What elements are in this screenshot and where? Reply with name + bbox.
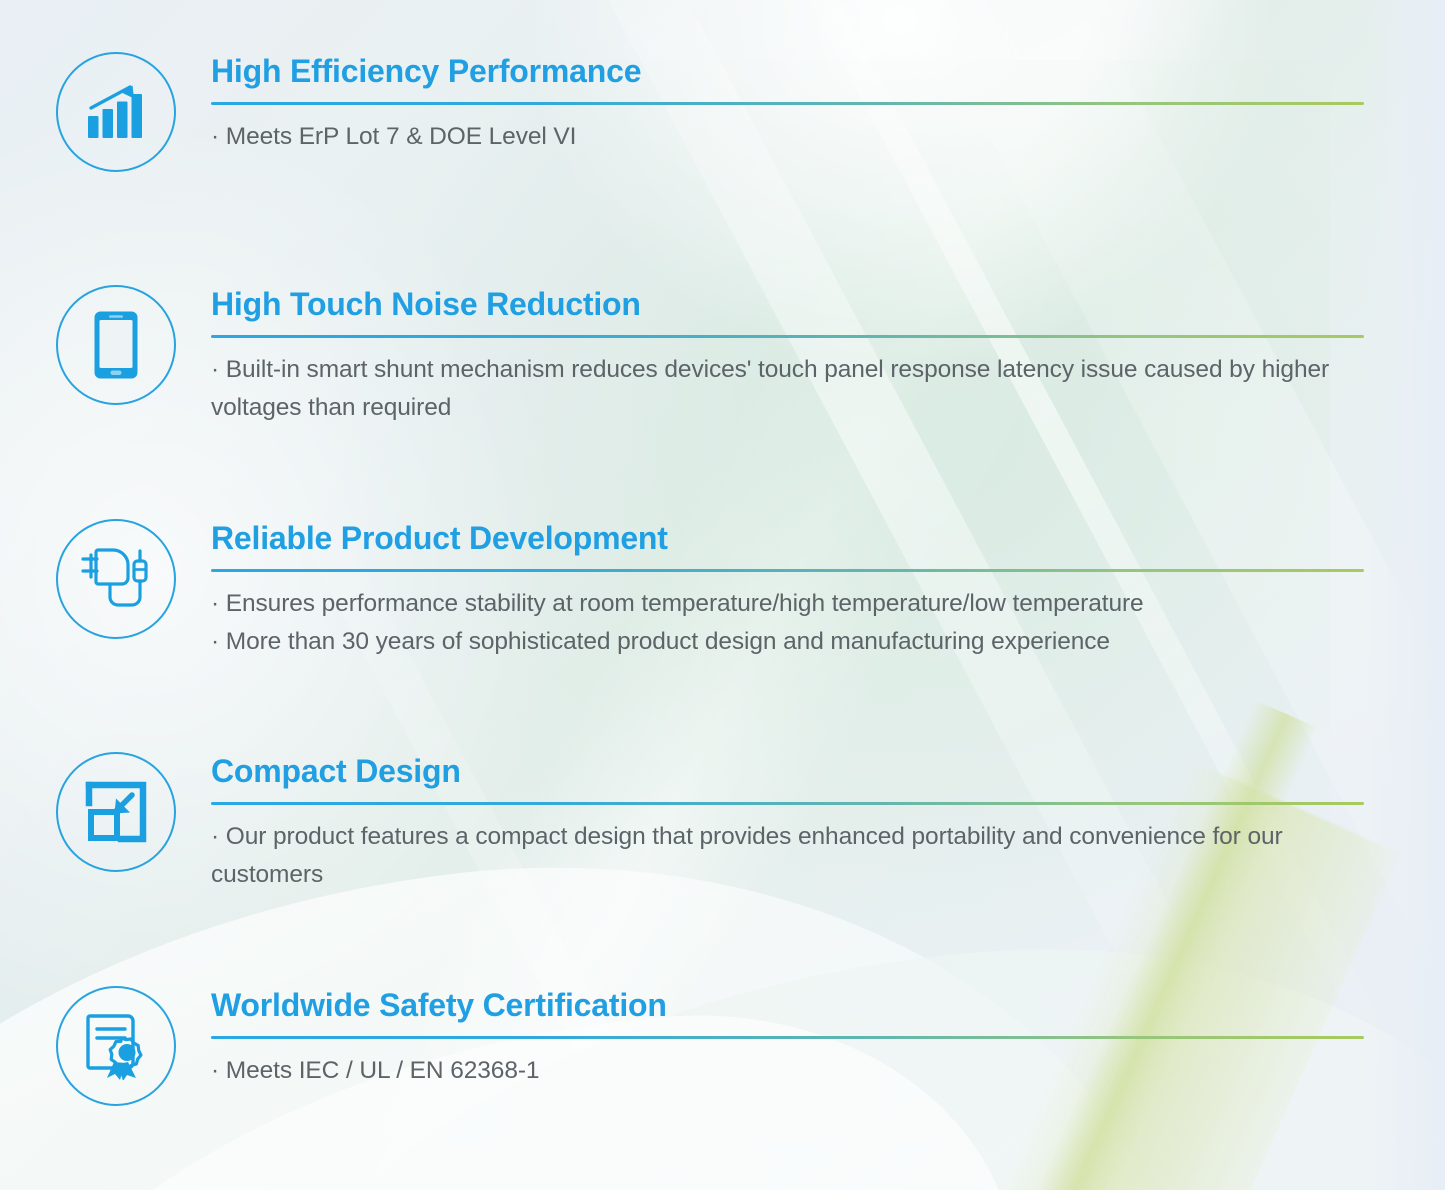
- feature-body: · Built-in smart shunt mechanism reduces…: [211, 351, 1385, 427]
- feature-text-column: Reliable Product Development · Ensures p…: [211, 522, 1385, 661]
- feature-title: Compact Design: [211, 755, 1385, 787]
- feature-body: · Meets ErP Lot 7 & DOE Level VI: [211, 118, 1385, 156]
- feature-divider: [211, 569, 1364, 572]
- feature-body-line: · Our product features a compact design …: [211, 818, 1371, 894]
- feature-title: High Efficiency Performance: [211, 55, 1385, 87]
- feature-divider: [211, 802, 1364, 805]
- certificate-seal-icon: [84, 1012, 148, 1080]
- feature-body-line: · Meets ErP Lot 7 & DOE Level VI: [211, 118, 1385, 156]
- bar-chart-growth-icon: [85, 83, 147, 141]
- smartphone-icon: [93, 310, 139, 380]
- feature-text-column: High Efficiency Performance · Meets ErP …: [211, 55, 1385, 156]
- feature-body-line: · Meets IEC / UL / EN 62368-1: [211, 1052, 1385, 1090]
- feature-divider: [211, 1036, 1364, 1039]
- feature-body-line: · Built-in smart shunt mechanism reduces…: [211, 351, 1371, 427]
- icon-circle: [56, 986, 176, 1106]
- feature-body: · Meets IEC / UL / EN 62368-1: [211, 1052, 1385, 1090]
- feature-icon-wrap: [52, 48, 180, 176]
- feature-body-line: · More than 30 years of sophisticated pr…: [211, 623, 1385, 661]
- power-adapter-icon: [79, 546, 153, 612]
- feature-icon-wrap: [52, 982, 180, 1110]
- feature-text-column: High Touch Noise Reduction · Built-in sm…: [211, 288, 1385, 427]
- feature-icon-wrap: [52, 748, 180, 876]
- feature-text-column: Worldwide Safety Certification · Meets I…: [211, 989, 1385, 1090]
- feature-title: Reliable Product Development: [211, 522, 1385, 554]
- feature-divider: [211, 102, 1364, 105]
- feature-body-line: · Ensures performance stability at room …: [211, 585, 1385, 623]
- feature-icon-wrap: [52, 515, 180, 643]
- icon-circle: [56, 752, 176, 872]
- feature-text-column: Compact Design · Our product features a …: [211, 755, 1385, 894]
- icon-circle: [56, 285, 176, 405]
- shrink-resize-icon: [85, 781, 147, 843]
- feature-title: Worldwide Safety Certification: [211, 989, 1385, 1021]
- feature-icon-wrap: [52, 281, 180, 409]
- features-container: High Efficiency Performance · Meets ErP …: [0, 0, 1445, 1190]
- feature-divider: [211, 335, 1364, 338]
- feature-body: · Ensures performance stability at room …: [211, 585, 1385, 661]
- feature-body: · Our product features a compact design …: [211, 818, 1385, 894]
- icon-circle: [56, 519, 176, 639]
- feature-list-page: High Efficiency Performance · Meets ErP …: [0, 0, 1445, 1190]
- feature-title: High Touch Noise Reduction: [211, 288, 1385, 320]
- icon-circle: [56, 52, 176, 172]
